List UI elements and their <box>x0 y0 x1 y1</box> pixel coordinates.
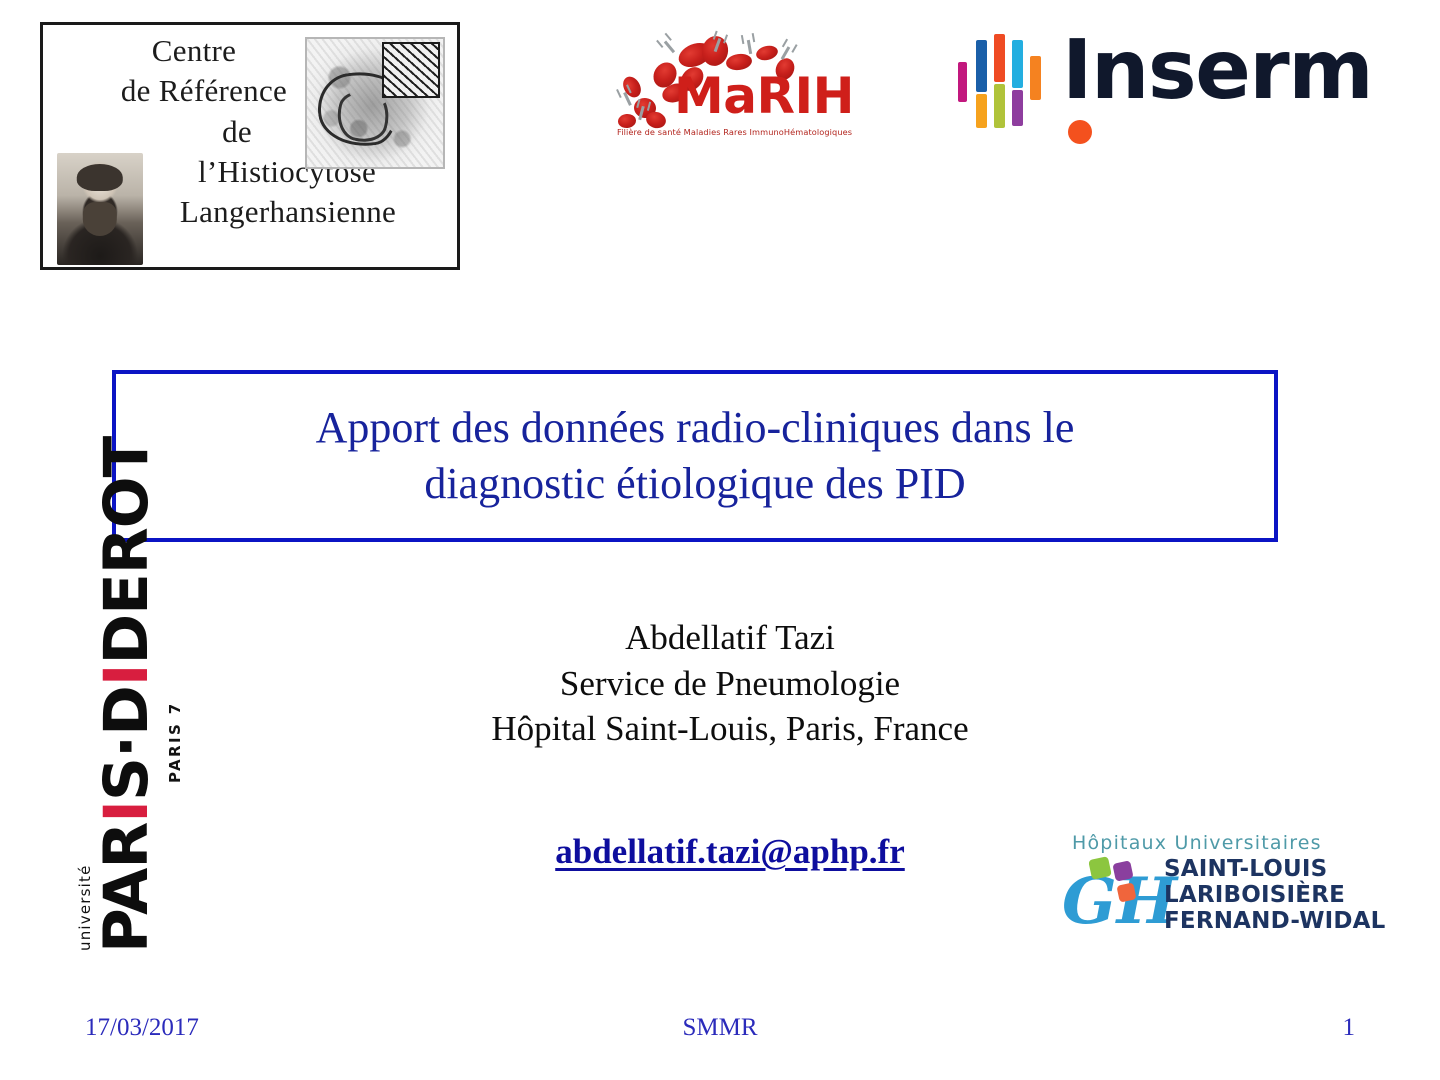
title-line-1: Apport des données radio-cliniques dans … <box>316 403 1075 452</box>
slide-title-box: Apport des données radio-cliniques dans … <box>112 370 1278 542</box>
hu-accent-square <box>1116 882 1136 902</box>
diderot-campus-label: PARIS 7 <box>166 701 184 783</box>
antibody-icon <box>664 41 675 53</box>
diderot-i-red: I <box>91 801 162 823</box>
diderot-par: PAR <box>91 823 162 953</box>
antibody-icon <box>747 40 752 54</box>
author-name: Abdellatif Tazi <box>270 615 1190 661</box>
diderot-derot: DEROT <box>91 437 162 665</box>
portrait-hair <box>77 164 123 191</box>
hu-top-line: Hôpitaux Universitaires <box>1072 832 1322 854</box>
diderot-s: S <box>91 758 162 801</box>
diderot-wordmark: PARIS·DIDEROT <box>96 437 157 953</box>
inserm-bars-icon <box>958 34 1058 129</box>
hu-hospital-names: SAINT-LOUIS LARIBOISIÈRE FERNAND-WIDAL <box>1164 856 1386 935</box>
page-title: Apport des données radio-cliniques dans … <box>288 400 1103 513</box>
hu-accent-square <box>1112 860 1133 881</box>
inserm-bar <box>994 34 1005 82</box>
red-blood-cell-icon <box>755 44 780 63</box>
inserm-logo: Inserm <box>958 28 1358 140</box>
marih-logo: MaRIH Filière de santé Maladies Rares Im… <box>616 32 846 140</box>
author-block: Abdellatif Tazi Service de Pneumologie H… <box>270 615 1190 752</box>
marih-wordmark: MaRIH <box>674 71 854 121</box>
inserm-bar <box>1030 56 1041 100</box>
portrait-beard <box>83 202 117 236</box>
gh-monogram-icon: GH <box>1060 858 1160 952</box>
hu-accent-square <box>1088 856 1112 880</box>
langerhans-portrait-image <box>57 153 143 265</box>
inserm-bar <box>994 84 1005 128</box>
micrograph-inset-panel <box>382 42 440 98</box>
inserm-bar <box>1012 40 1023 88</box>
histology-micrograph-image <box>305 37 445 169</box>
author-email-link[interactable]: abdellatif.tazi@aphp.fr <box>270 832 1190 872</box>
marih-tagline: Filière de santé Maladies Rares ImmunoHé… <box>617 127 845 137</box>
inserm-bar <box>1012 90 1023 126</box>
diderot-separator-dot: · <box>91 736 162 758</box>
author-affiliation: Hôpital Saint-Louis, Paris, France <box>270 706 1190 752</box>
diderot-i2-red: I <box>91 665 162 687</box>
inserm-bar <box>958 62 967 102</box>
footer-page-number: 1 <box>0 1014 1440 1042</box>
centre-reference-logo: Centre de Référence de l’Histiocytose La… <box>40 22 460 270</box>
hu-name-1: SAINT-LOUIS <box>1164 856 1327 882</box>
hopitaux-universitaires-logo: Hôpitaux Universitaires GH SAINT-LOUIS L… <box>1060 832 1370 956</box>
paris-diderot-logo: université PARIS·DIDEROT PARIS 7 <box>70 595 230 955</box>
diderot-d: D <box>91 686 162 736</box>
inserm-bar <box>976 40 987 92</box>
inserm-wordmark: Inserm <box>1062 30 1372 112</box>
author-department: Service de Pneumologie <box>270 661 1190 707</box>
hu-name-3: FERNAND-WIDAL <box>1164 908 1386 934</box>
inserm-dot-icon <box>1068 120 1092 144</box>
title-line-2: diagnostic étiologique des PID <box>424 459 965 508</box>
hu-name-2: LARIBOISIÈRE <box>1164 882 1345 908</box>
inserm-bar <box>976 94 987 128</box>
paris-diderot-logo-inner: université PARIS·DIDEROT PARIS 7 <box>70 595 230 955</box>
